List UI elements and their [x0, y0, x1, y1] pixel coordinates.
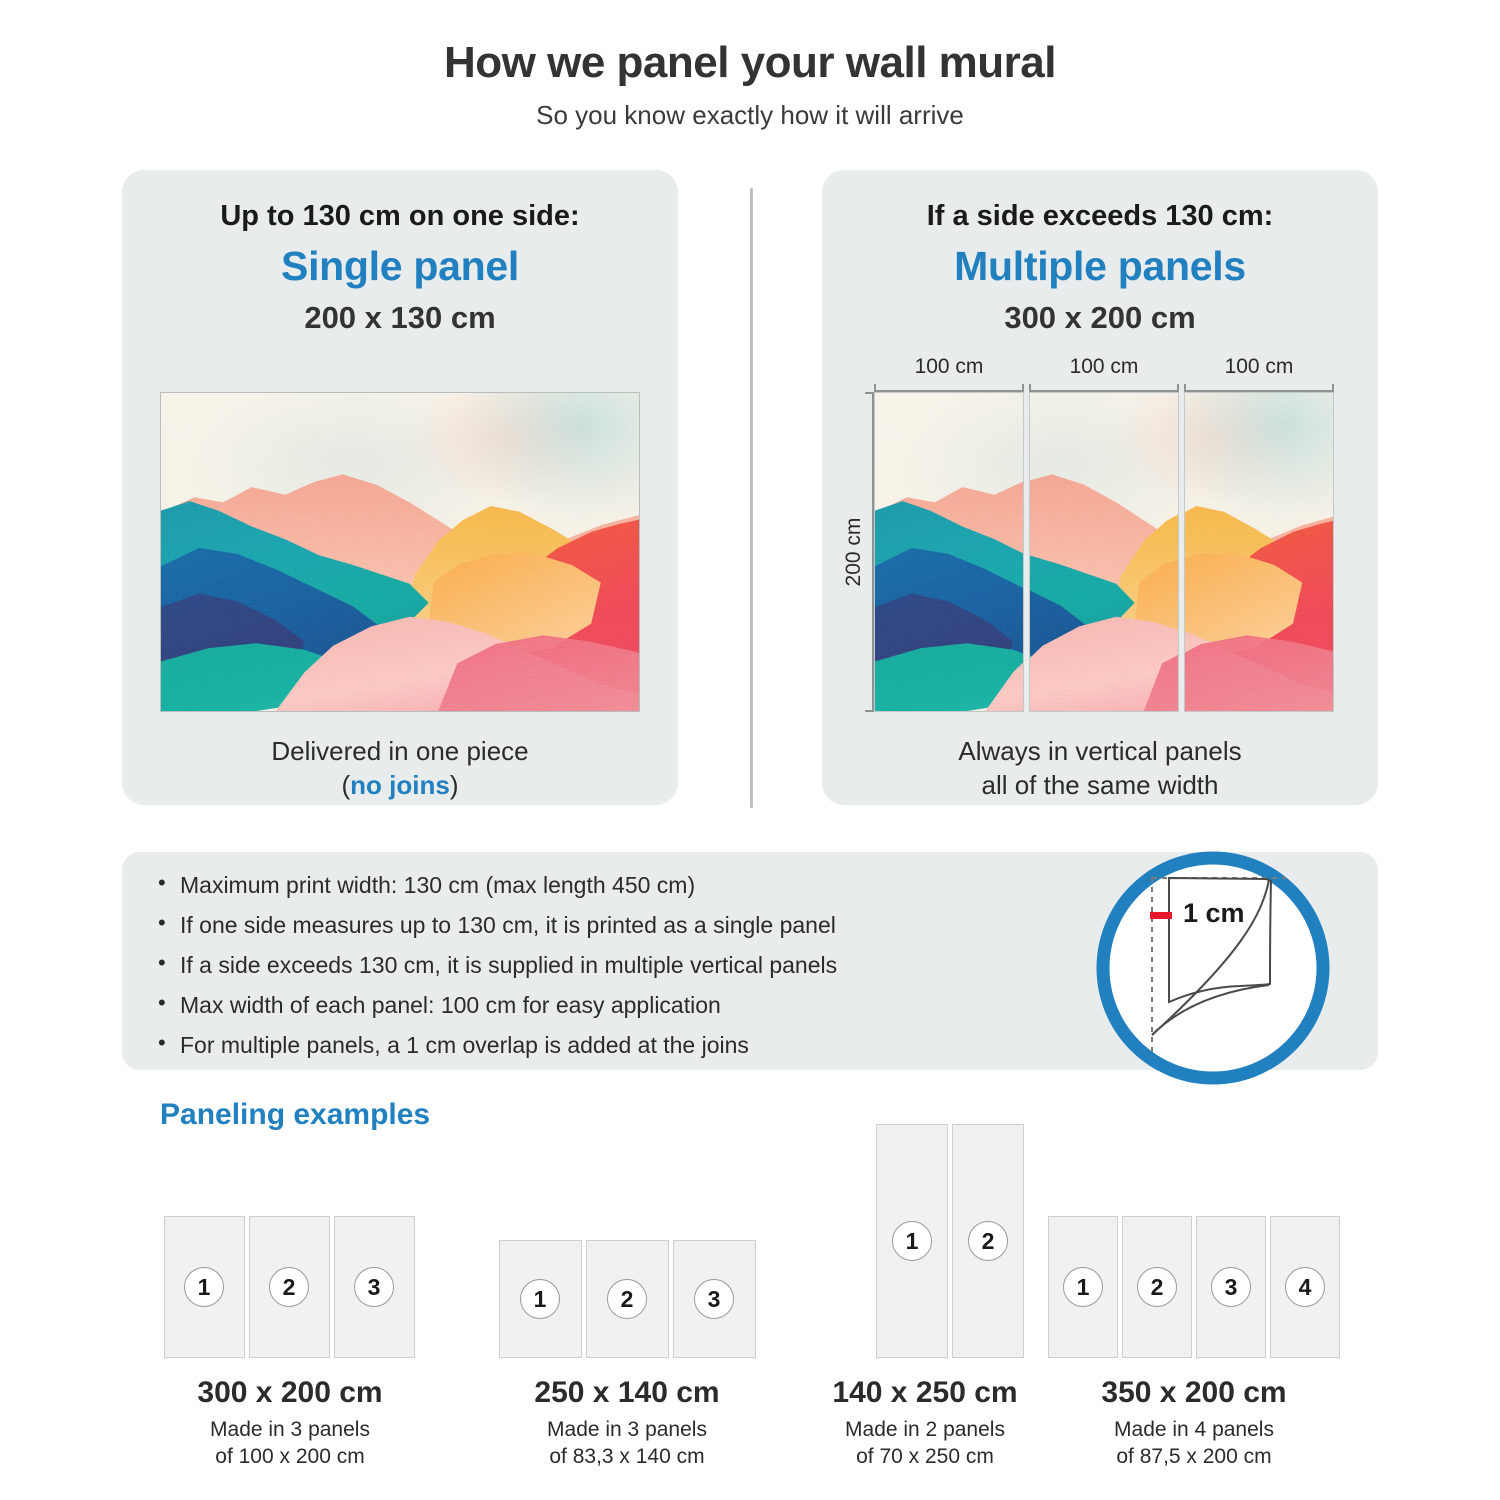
panel-number: 2 [269, 1267, 309, 1307]
mural-panel [1184, 392, 1334, 712]
overlap-measure-marker [1150, 912, 1172, 919]
multiple-panels-size: 300 x 200 cm [822, 290, 1378, 336]
overlap-diagram-svg [1090, 845, 1336, 1091]
panel-height-dimension: 200 cm [836, 392, 874, 712]
overlap-label: 1 cm [1183, 898, 1245, 929]
panel-number: 4 [1285, 1267, 1325, 1307]
example-title: 140 x 250 cm [820, 1376, 1030, 1410]
panel-box: 3 [1196, 1216, 1266, 1358]
single-panel-caption: Delivered in one piece (no joins) [122, 734, 678, 803]
panel-number: 2 [968, 1221, 1008, 1261]
multiple-panels-heading: If a side exceeds 130 cm: [822, 170, 1378, 233]
panel-box: 2 [952, 1124, 1024, 1358]
example-panels: 1 2 3 4 [1048, 1216, 1340, 1358]
example-140x250: 1 2 140 x 250 cm Made in 2 panels of 70 … [820, 1124, 1080, 1471]
mural-paper-texture [161, 393, 639, 711]
panel-width-dimension: 100 cm [1184, 358, 1334, 392]
card-divider [750, 188, 753, 808]
panel-box: 1 [164, 1216, 245, 1358]
panel-number: 3 [1211, 1267, 1251, 1307]
example-350x200: 1 2 3 4 350 x 200 cm Made in 4 panels of… [1044, 1216, 1344, 1471]
multiple-panels-card: If a side exceeds 130 cm: Multiple panel… [822, 170, 1378, 805]
panel-number: 1 [892, 1221, 932, 1261]
multiple-panels-caption: Always in vertical panels all of the sam… [822, 734, 1378, 803]
list-item: Max width of each panel: 100 cm for easy… [154, 994, 1084, 1017]
overlap-sheet-shape [1169, 878, 1271, 1002]
panel-box: 4 [1270, 1216, 1340, 1358]
mural-panel-art [875, 393, 1024, 711]
example-panels: 1 2 3 [164, 1216, 417, 1358]
list-item: For multiple panels, a 1 cm overlap is a… [154, 1034, 1084, 1057]
comparison-cards: Up to 130 cm on one side: Single panel 2… [0, 170, 1500, 810]
example-250x140: 1 2 3 250 x 140 cm Made in 3 panels of 8… [492, 1240, 762, 1471]
panel-box: 1 [876, 1124, 948, 1358]
page-title: How we panel your wall mural [0, 0, 1500, 88]
example-title: 350 x 200 cm [1044, 1376, 1344, 1410]
panel-number: 1 [184, 1267, 224, 1307]
example-subtitle: Made in 4 panels of 87,5 x 200 cm [1044, 1416, 1344, 1471]
panel-number: 2 [607, 1279, 647, 1319]
dimension-bracket-icon [1029, 384, 1179, 392]
panel-box: 2 [1122, 1216, 1192, 1358]
example-subtitle: Made in 3 panels of 100 x 200 cm [150, 1416, 430, 1471]
panel-number: 3 [354, 1267, 394, 1307]
panel-width-dimension: 100 cm [1029, 358, 1179, 392]
list-item: Maximum print width: 130 cm (max length … [154, 874, 1084, 897]
single-panel-heading: Up to 130 cm on one side: [122, 170, 678, 233]
single-panel-highlight: Single panel [122, 233, 678, 290]
mural-panel [1029, 392, 1179, 712]
page-subtitle: So you know exactly how it will arrive [0, 88, 1500, 131]
example-subtitle: Made in 3 panels of 83,3 x 140 cm [492, 1416, 762, 1471]
multiple-panels-highlight: Multiple panels [822, 233, 1378, 290]
mural-panel-art [1029, 393, 1179, 711]
mural-preview-single [160, 392, 640, 712]
example-title: 300 x 200 cm [150, 1376, 430, 1410]
example-subtitle: Made in 2 panels of 70 x 250 cm [820, 1416, 1030, 1471]
infographic-page: How we panel your wall mural So you know… [0, 0, 1500, 1500]
mural-panel [874, 392, 1024, 712]
mural-panel-art [1184, 393, 1334, 711]
example-panels: 1 2 [876, 1124, 1024, 1358]
example-300x200: 1 2 3 300 x 200 cm Made in 3 panels of 1… [150, 1216, 430, 1471]
panel-box: 1 [1048, 1216, 1118, 1358]
single-panel-size: 200 x 130 cm [122, 290, 678, 336]
dimension-bracket-icon [1184, 384, 1334, 392]
panel-box: 2 [586, 1240, 669, 1358]
panel-width-dimensions: 100 cm 100 cm 100 cm [874, 358, 1334, 392]
dimension-bracket-vertical-icon [865, 392, 874, 712]
dimension-bracket-icon [874, 384, 1024, 392]
panel-number: 3 [694, 1279, 734, 1319]
specifications-list: Maximum print width: 130 cm (max length … [154, 874, 1084, 1074]
mural-preview-multi [874, 392, 1334, 712]
example-panels: 1 2 3 [499, 1240, 756, 1358]
example-title: 250 x 140 cm [492, 1376, 762, 1410]
panel-number: 1 [520, 1279, 560, 1319]
panel-number: 2 [1137, 1267, 1177, 1307]
single-panel-card: Up to 130 cm on one side: Single panel 2… [122, 170, 678, 805]
panel-box: 2 [249, 1216, 330, 1358]
panel-number: 1 [1063, 1267, 1103, 1307]
list-item: If a side exceeds 130 cm, it is supplied… [154, 954, 1084, 977]
panel-box: 3 [334, 1216, 415, 1358]
panel-box: 1 [499, 1240, 582, 1358]
no-joins-accent: no joins [350, 770, 450, 800]
list-item: If one side measures up to 130 cm, it is… [154, 914, 1084, 937]
paneling-examples-title: Paneling examples [160, 1098, 430, 1132]
overlap-diagram: 1 cm [1090, 845, 1336, 1091]
panel-width-dimension: 100 cm [874, 358, 1024, 392]
panel-box: 3 [673, 1240, 756, 1358]
